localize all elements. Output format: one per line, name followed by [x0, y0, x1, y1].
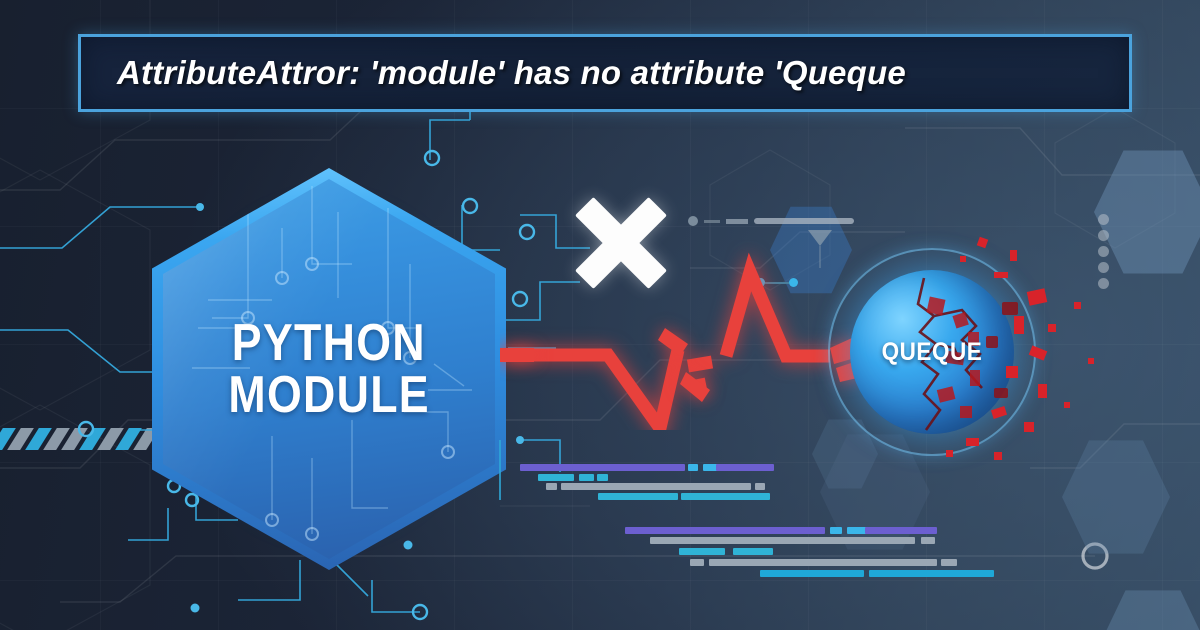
- broken-heartbeat-line-icon: [500, 240, 880, 430]
- queque-sphere: QUEQUE: [842, 262, 1022, 442]
- hexagon-label-line2: MODULE: [228, 370, 430, 420]
- sphere-fragment: [1088, 358, 1094, 364]
- sphere-fragment: [1010, 250, 1017, 261]
- sphere-label-wrap: QUEQUE: [842, 262, 1022, 442]
- hexagon-label-line1: PYTHON: [232, 318, 426, 368]
- sphere-fragment: [1074, 302, 1081, 309]
- sphere-fragment: [1064, 402, 1070, 408]
- x-mark-icon: [568, 190, 674, 296]
- sphere-label: QUEQUE: [882, 338, 983, 367]
- sphere-fragment: [1038, 384, 1047, 398]
- sphere-fragment: [994, 452, 1002, 460]
- sphere-fragment: [1024, 422, 1034, 432]
- hexagon-label: PYTHON MODULE: [152, 168, 506, 570]
- sphere-fragment: [946, 450, 953, 457]
- sphere-fragment: [1048, 324, 1056, 332]
- python-module-hexagon: PYTHON MODULE: [152, 168, 506, 570]
- illustration-canvas: AttributeAttror: 'module' has no attribu…: [0, 0, 1200, 630]
